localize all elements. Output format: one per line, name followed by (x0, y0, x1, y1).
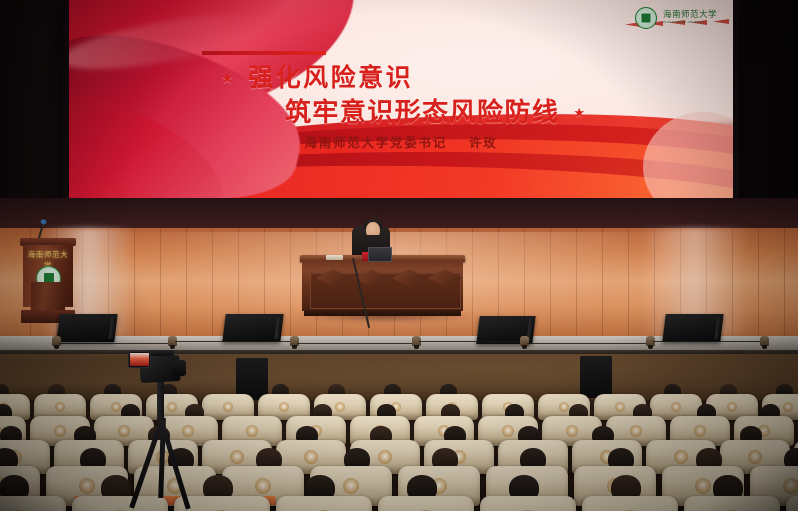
university-logo-text: 海南师范大学 HAINAN NORMAL UNIVERSITY (663, 11, 717, 24)
audience-area (0, 354, 798, 511)
title-rule (202, 51, 326, 55)
title-line-1-text: 强化风险意识 (248, 63, 413, 92)
seat-crest-icon (279, 402, 289, 412)
seat-crest-icon (783, 478, 798, 494)
desk-laptop (368, 247, 392, 262)
stage-monitor-speaker (662, 314, 723, 342)
led-screen: ★强化风险意识 筑牢意识形态风险防线★ 海南师范大学党委书记许玫 海南师范大学 … (63, 0, 739, 222)
floor-plank (758, 228, 759, 338)
seat-crest-icon (79, 478, 95, 494)
seat-crest-icon (559, 402, 569, 412)
audience-seat (786, 496, 798, 511)
university-name-en: HAINAN NORMAL UNIVERSITY (663, 22, 717, 25)
seat-crest-icon (223, 402, 233, 412)
seat-crest-icon (694, 425, 706, 437)
footlight (52, 336, 61, 346)
audience-seat (378, 496, 474, 511)
seat-crest-icon (674, 450, 688, 464)
seat-crest-icon (630, 425, 642, 437)
stage-monitor-speaker (56, 314, 117, 342)
floor-plank (784, 228, 785, 338)
audience-seat (684, 496, 780, 511)
seat-crest-icon (230, 450, 244, 464)
seat-crest-icon (246, 425, 258, 437)
led-subtitle: 海南师范大学党委书记许玫 (69, 132, 733, 151)
led-screen-canvas: ★强化风险意识 筑牢意识形态风险防线★ 海南师范大学党委书记许玫 海南师范大学 … (69, 0, 733, 218)
seat-crest-icon (566, 425, 578, 437)
audience-seat (72, 496, 168, 511)
camera-lens-icon (172, 360, 186, 376)
desk-papers (326, 255, 343, 260)
audience-seat (276, 496, 372, 511)
seat-crest-icon (727, 402, 737, 412)
camera-viewfinder-screen (130, 353, 149, 366)
tripod-column (157, 380, 164, 420)
seat-crest-icon (255, 478, 271, 494)
seat-crest-icon (111, 402, 121, 412)
seat-crest-icon (335, 402, 345, 412)
footlight (290, 336, 299, 346)
desk-front-panel (302, 261, 463, 311)
title-line-2: 筑牢意识形态风险防线★ (285, 92, 586, 129)
podium-waist (31, 282, 65, 312)
seat-crest-icon (783, 402, 793, 412)
seat-crest-icon (748, 450, 762, 464)
audience-seat (0, 496, 66, 511)
seat-crest-icon (167, 402, 177, 412)
podium-gold-text: 海南师范大学 (25, 249, 71, 259)
seat-crest-icon (55, 402, 65, 412)
seat-crest-icon (343, 478, 359, 494)
audience-seat (480, 496, 576, 511)
stage-monitor-speaker (222, 314, 283, 342)
university-name-cn: 海南师范大学 (663, 11, 717, 20)
seat-crest-icon (182, 425, 194, 437)
seat-crest-icon (671, 402, 681, 412)
footlight (760, 336, 769, 346)
star-icon: ★ (221, 71, 236, 87)
seat-crest-icon (54, 425, 66, 437)
seat-crest-icon (378, 450, 392, 464)
university-emblem-icon (635, 7, 657, 29)
desk-base (304, 310, 461, 316)
title-line-1: ★强化风险意识 (221, 58, 413, 94)
speaker-desk (300, 255, 465, 317)
seat-crest-icon (502, 425, 514, 437)
seat-crest-icon (615, 402, 625, 412)
star-icon: ★ (573, 106, 586, 121)
lecture-hall-photo: ★强化风险意识 筑牢意识形态风险防线★ 海南师范大学党委书记许玫 海南师范大学 … (0, 0, 798, 511)
subtitle-name: 许玫 (469, 135, 498, 150)
hall-speaker-box (580, 356, 612, 398)
subtitle-role: 海南师范大学党委书记 (304, 135, 447, 150)
audience-seat (582, 496, 678, 511)
seat-crest-icon (118, 425, 130, 437)
seat-crest-icon (695, 478, 711, 494)
footlight (520, 336, 529, 346)
university-logo: 海南师范大学 HAINAN NORMAL UNIVERSITY (635, 7, 717, 29)
camera-viewfinder (128, 351, 151, 368)
seat-crest-icon (304, 450, 318, 464)
title-line-2-text: 筑牢意识形态风险防线 (285, 98, 559, 128)
